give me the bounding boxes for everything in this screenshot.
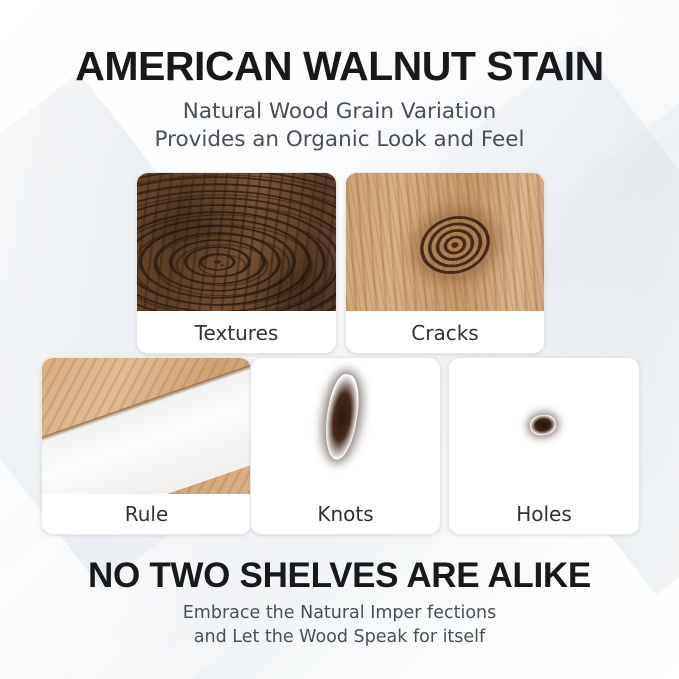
feature-card-rule: Rule — [41, 357, 252, 535]
content-layer: AMERICAN WALNUT STAIN Natural Wood Grain… — [0, 0, 679, 679]
footer-subtitle: Embrace the Natural Imper fections and L… — [0, 602, 679, 649]
page-subtitle: Natural Wood Grain Variation Provides an… — [0, 98, 679, 155]
feature-card-caption: Cracks — [346, 313, 544, 353]
light-wood-knot-crack-photo — [346, 173, 544, 311]
wood-photo-rule — [42, 358, 251, 494]
promo-image: AMERICAN WALNUT STAIN Natural Wood Grain… — [0, 0, 679, 679]
feature-card-caption: Rule — [42, 494, 251, 534]
feature-card-caption: Textures — [137, 313, 336, 353]
page-title: AMERICAN WALNUT STAIN — [0, 46, 679, 87]
dark-walnut-knot-photo — [251, 358, 440, 494]
feature-card-textures: Textures — [136, 172, 337, 354]
wood-photo-textures — [137, 173, 336, 311]
footer-subtitle-line-2: and Let the Wood Speak for itself — [0, 626, 679, 650]
tan-wood-hole-photo — [449, 358, 639, 494]
footer-subtitle-line-1: Embrace the Natural Imper fections — [183, 603, 497, 623]
feature-card-caption: Holes — [449, 494, 639, 534]
wood-photo-knots — [251, 358, 440, 494]
wood-photo-cracks — [346, 173, 544, 311]
feature-card-cracks: Cracks — [345, 172, 545, 354]
feature-card-caption: Knots — [251, 494, 440, 534]
pale-oak-plank-edge-photo — [42, 358, 251, 494]
feature-card-holes: Holes — [448, 357, 640, 535]
footer-title: NO TWO SHELVES ARE ALIKE — [0, 556, 679, 596]
page-subtitle-line-2: Provides an Organic Look and Feel — [0, 126, 679, 154]
feature-card-knots: Knots — [250, 357, 441, 535]
dark-walnut-swirl-grain-photo — [137, 173, 336, 311]
page-subtitle-line-1: Natural Wood Grain Variation — [183, 99, 496, 124]
wood-photo-holes — [449, 358, 639, 494]
